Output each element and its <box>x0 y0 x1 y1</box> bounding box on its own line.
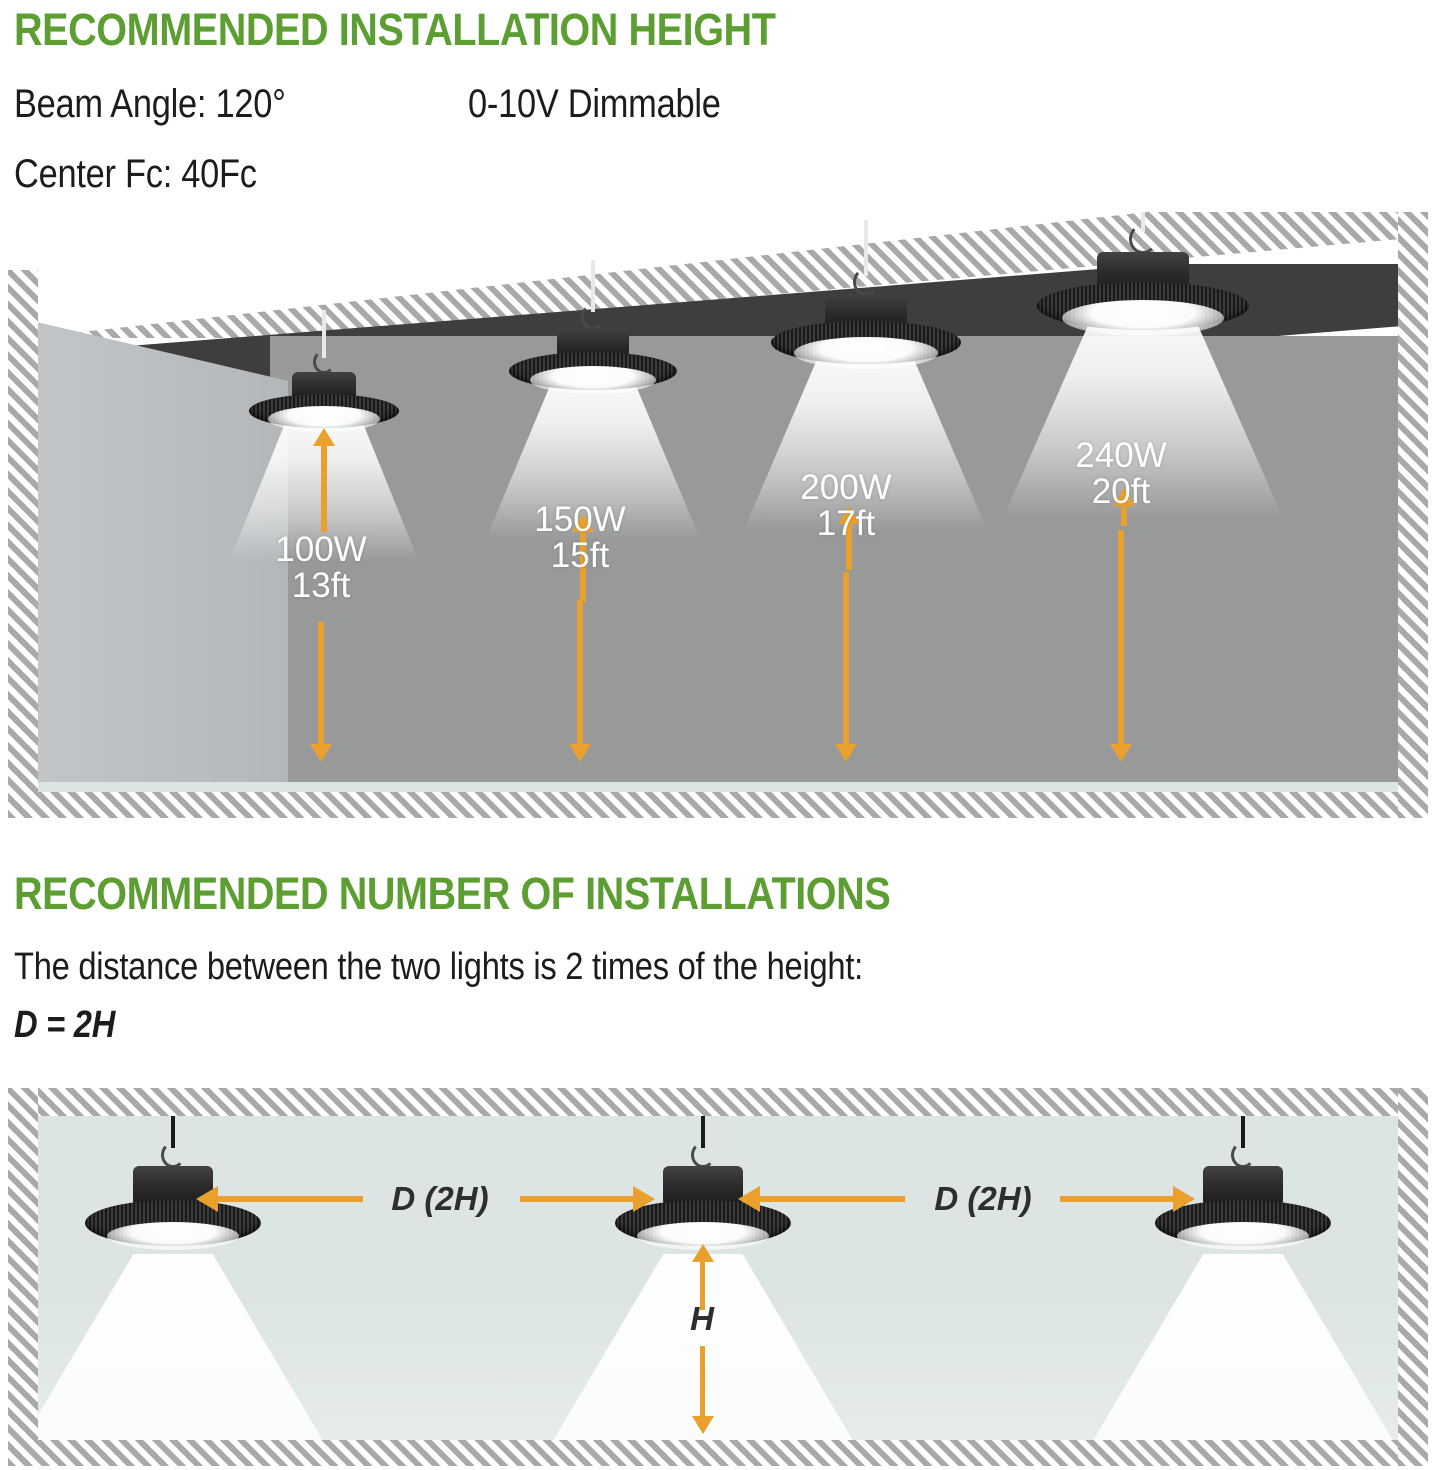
spacing-label-left: D (2H) <box>391 1180 488 1218</box>
height-arrow-240w-lower <box>1118 530 1124 746</box>
spacing-arrow-head-right-a <box>738 1186 760 1212</box>
fixture-label-150w: 150W 15ft <box>534 502 625 573</box>
hook-icon <box>1231 1142 1255 1168</box>
height-arrow-200w-lower <box>843 572 849 746</box>
section2-description: The distance between the two lights is 2… <box>14 946 863 989</box>
right-border-hatch-2 <box>1398 1088 1428 1466</box>
lamp-lens <box>794 337 938 369</box>
height-arrow-100w <box>321 444 327 532</box>
spacing-label-right: D (2H) <box>934 1180 1031 1218</box>
spacing-arrow-line-right-a <box>760 1196 905 1202</box>
height-label-h: H <box>690 1300 714 1338</box>
spacing-arrow-head-left-b <box>633 1186 655 1212</box>
right-border-hatch <box>1398 212 1428 818</box>
section1-title: RECOMMENDED INSTALLATION HEIGHT <box>14 4 775 56</box>
hook-icon <box>581 304 605 330</box>
lamp-lens <box>1062 300 1224 336</box>
floor-surface <box>28 782 1398 792</box>
lamp-lens <box>530 366 656 394</box>
infographic-page: RECOMMENDED INSTALLATION HEIGHT Beam Ang… <box>0 0 1436 1470</box>
fixture-label-100w: 100W 13ft <box>275 532 366 603</box>
installation-height-diagram: 100W 13ft 150W 15ft 200W 17ft <box>8 212 1428 818</box>
spacing-arrow-line-left-a <box>218 1196 363 1202</box>
floor-border-hatch <box>8 1440 1428 1466</box>
left-border-hatch-2 <box>8 1088 38 1466</box>
lamp-housing <box>663 1166 743 1204</box>
hook-icon <box>313 350 335 374</box>
spec-dimmable: 0-10V Dimmable <box>468 82 721 127</box>
height-arrow-150w-lower <box>577 600 583 746</box>
spacing-arrow-line-right-b <box>1060 1196 1175 1202</box>
lamp-lens <box>107 1222 239 1250</box>
section2-title: RECOMMENDED NUMBER OF INSTALLATIONS <box>14 868 890 920</box>
height-arrow-h-lower <box>700 1346 705 1418</box>
spec-center-fc: Center Fc: 40Fc <box>14 152 257 197</box>
ceiling-border-hatch <box>8 1088 1428 1116</box>
hook-icon <box>691 1142 715 1168</box>
spacing-arrow-head-right-b <box>1173 1186 1195 1212</box>
height-arrow-100w-lower <box>318 622 324 746</box>
hook-icon <box>853 268 879 296</box>
spacing-arrow-line-left-b <box>520 1196 635 1202</box>
section2-equation: D = 2H <box>14 1004 115 1047</box>
installation-spacing-diagram: D (2H) D (2H) H <box>8 1088 1428 1466</box>
hook-icon <box>1129 224 1157 254</box>
bottom-border-hatch <box>8 792 1428 818</box>
hook-icon <box>161 1142 185 1168</box>
left-border-hatch <box>8 270 38 818</box>
fixture-label-200w: 200W 17ft <box>800 470 891 541</box>
lamp-lens <box>1177 1222 1309 1250</box>
lamp-housing <box>1203 1166 1283 1204</box>
spec-beam-angle: Beam Angle: 120° <box>14 82 286 127</box>
fixture-label-240w: 240W 20ft <box>1075 438 1166 509</box>
spacing-arrow-head-left-a <box>196 1186 218 1212</box>
